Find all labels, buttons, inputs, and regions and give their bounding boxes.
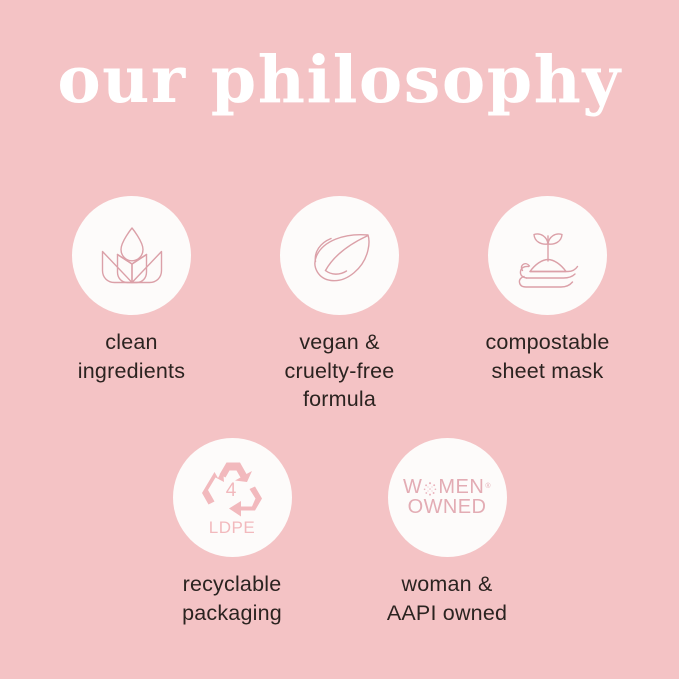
recycling-ldpe-icon: 4: [195, 458, 269, 520]
icon-circle-clean-ingredients: [72, 196, 191, 315]
feature-item-woman-aapi-owned: W: [344, 438, 551, 627]
women-owned-text-pre: W: [403, 478, 422, 498]
feature-caption-vegan-cruelty-free: vegan & cruelty-free formula: [285, 328, 395, 414]
feature-caption-clean-ingredients: clean ingredients: [78, 328, 185, 385]
hand-sprout-icon: [506, 214, 590, 298]
recycling-number: 4: [226, 480, 237, 501]
leaf-icon: [298, 214, 382, 298]
feature-caption-recyclable-packaging: recyclable packaging: [182, 570, 282, 627]
icon-circle-recyclable-packaging: 4 LDPE: [173, 438, 292, 557]
features-row-bottom: 4 LDPE recyclable packaging W: [0, 438, 679, 627]
page-title: our philosophy: [0, 48, 679, 113]
icon-circle-woman-aapi-owned: W: [388, 438, 507, 557]
features-row-top: clean ingredients vegan & cruelty-free f…: [0, 196, 679, 414]
feature-caption-woman-aapi-owned: woman & AAPI owned: [387, 570, 507, 627]
women-owned-text-post: MEN: [438, 478, 484, 498]
feature-item-clean-ingredients: clean ingredients: [28, 196, 235, 414]
women-owned-text-line2: OWNED: [408, 498, 487, 518]
recycling-material-label: LDPE: [209, 518, 255, 538]
women-owned-badge-icon: W: [403, 478, 491, 517]
feature-item-vegan-cruelty-free: vegan & cruelty-free formula: [236, 196, 443, 414]
icon-circle-compostable-sheet-mask: [488, 196, 607, 315]
sparkle-icon: [422, 481, 438, 497]
philosophy-infographic: our philosophy: [0, 0, 679, 679]
feature-item-compostable-sheet-mask: compostable sheet mask: [444, 196, 651, 414]
feature-item-recyclable-packaging: 4 LDPE recyclable packaging: [129, 438, 336, 627]
icon-circle-vegan-cruelty-free: [280, 196, 399, 315]
feature-caption-compostable-sheet-mask: compostable sheet mask: [485, 328, 609, 385]
registered-mark: ®: [485, 484, 491, 491]
droplet-leaves-icon: [90, 214, 174, 298]
